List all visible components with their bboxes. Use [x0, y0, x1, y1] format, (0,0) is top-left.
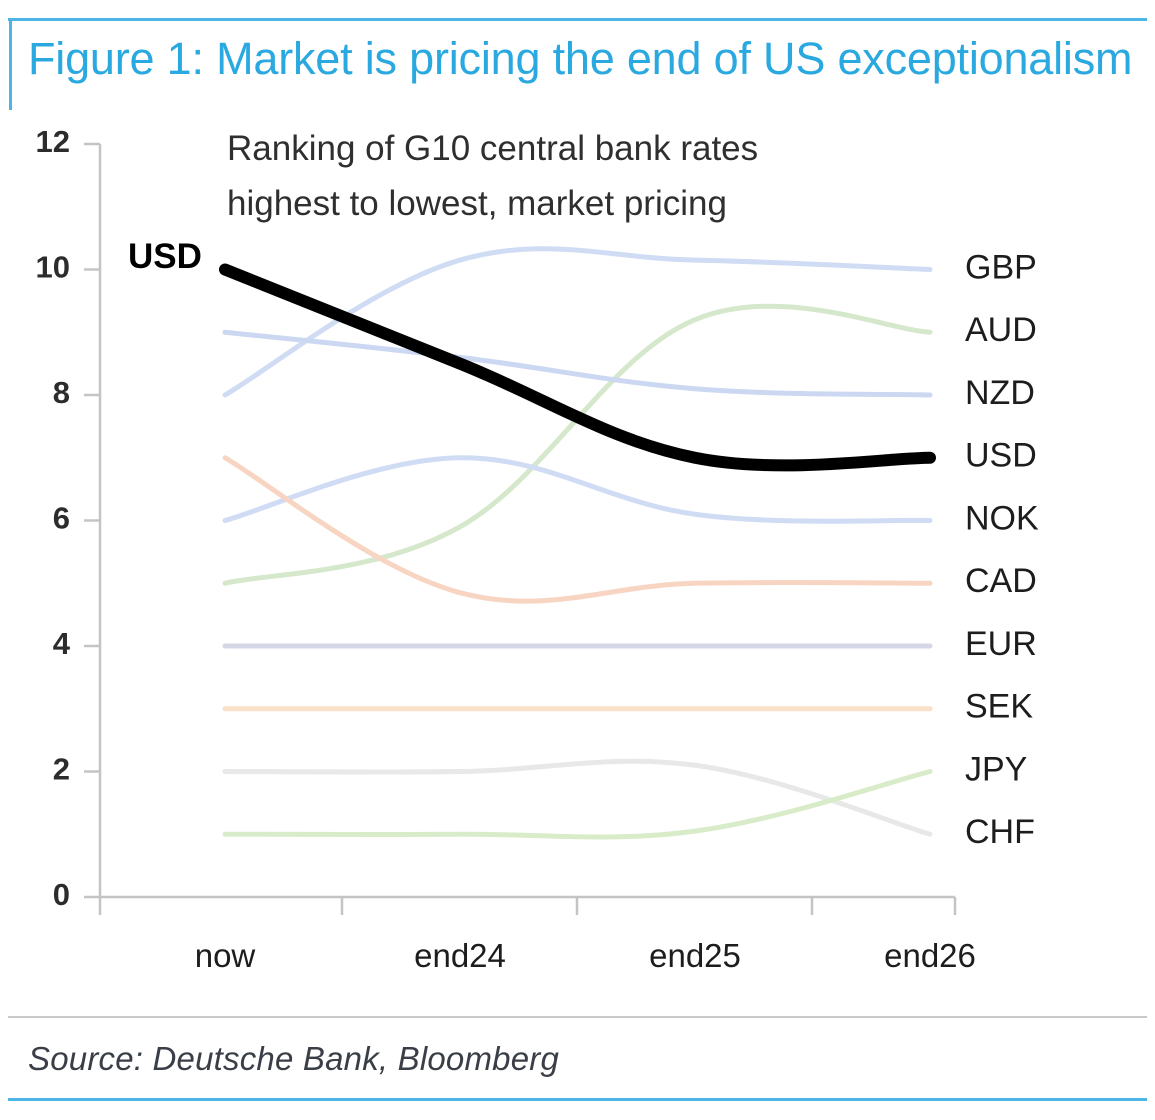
y-tick-label: 12 — [36, 124, 70, 159]
bottom-divider — [8, 1098, 1147, 1101]
usd-series-callout: USD — [128, 237, 202, 276]
series-lines — [225, 249, 930, 837]
chart-annotation-line2: highest to lowest, market pricing — [227, 184, 727, 223]
y-tick-label: 8 — [53, 375, 70, 410]
y-axis: 024681012 — [36, 124, 100, 912]
chart-plot-area: 024681012 GBPAUDNZDUSDNOKCADEURSEKCHFJPY… — [0, 110, 1155, 1000]
chart-annotation-line1: Ranking of G10 central bank rates — [227, 129, 758, 168]
figure-source: Source: Deutsche Bank, Bloomberg — [28, 1040, 559, 1078]
series-line-nzd — [225, 332, 930, 395]
x-tick-label-end24: end24 — [414, 937, 506, 974]
top-divider — [8, 18, 1147, 21]
series-label-chf: CHF — [965, 813, 1035, 851]
title-left-divider — [9, 18, 12, 110]
figure-container: Figure 1: Market is pricing the end of U… — [0, 0, 1155, 1120]
series-line-jpy — [225, 772, 930, 838]
series-label-jpy: JPY — [965, 750, 1027, 788]
y-tick-label: 0 — [53, 877, 70, 912]
x-tick-label-end26: end26 — [884, 937, 976, 974]
series-label-nok: NOK — [965, 499, 1039, 537]
x-tick-label-now: now — [195, 937, 256, 974]
series-line-aud — [225, 306, 930, 583]
y-tick-label: 6 — [53, 501, 70, 536]
series-line-usd — [225, 270, 930, 466]
line-chart: 024681012 GBPAUDNZDUSDNOKCADEURSEKCHFJPY… — [0, 110, 1155, 1000]
series-label-cad: CAD — [965, 562, 1037, 600]
series-label-nzd: NZD — [965, 374, 1035, 412]
series-label-sek: SEK — [965, 688, 1033, 726]
x-axis — [100, 897, 955, 915]
series-label-usd: USD — [965, 437, 1037, 475]
x-tick-label-end25: end25 — [649, 937, 741, 974]
x-tick-labels: nowend24end25end26 — [195, 937, 976, 974]
figure-title: Figure 1: Market is pricing the end of U… — [28, 28, 1128, 90]
series-label-gbp: GBP — [965, 248, 1037, 286]
y-tick-label: 2 — [53, 752, 70, 787]
series-label-aud: AUD — [965, 311, 1037, 349]
y-tick-label: 10 — [36, 250, 70, 285]
series-line-chf — [225, 761, 930, 834]
series-endpoint-labels: GBPAUDNZDUSDNOKCADEURSEKCHFJPY — [965, 248, 1039, 851]
series-label-eur: EUR — [965, 625, 1037, 663]
source-divider — [8, 1016, 1147, 1018]
y-tick-label: 4 — [53, 626, 71, 661]
